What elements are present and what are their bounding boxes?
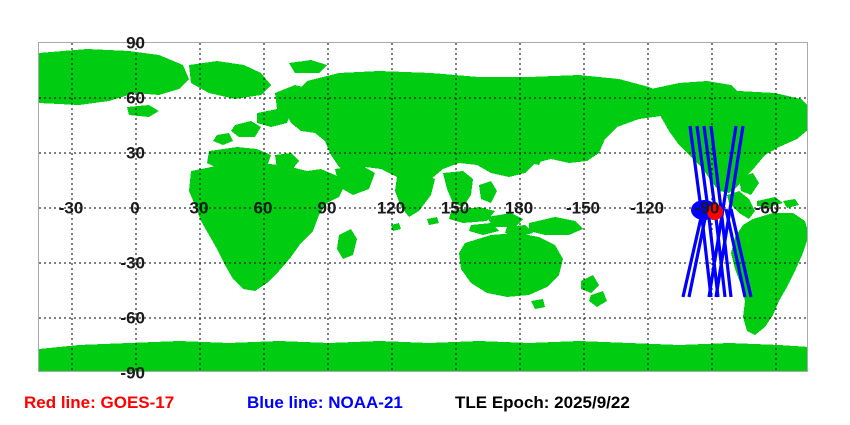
legend-blue-line-noaa21: Blue line: NOAA-21 bbox=[247, 394, 403, 411]
lon-label-60: 60 bbox=[254, 200, 273, 217]
lon-label-minus60: -60 bbox=[755, 200, 780, 217]
lat-label-minus60: -60 bbox=[85, 310, 145, 327]
satellite-ground-track-map: 90 60 30 -30 -60 -90 -30 0 30 60 90 120 … bbox=[0, 0, 850, 425]
lon-label-minus90: -90 bbox=[695, 200, 720, 217]
legend-footer: Red line: GOES-17 Blue line: NOAA-21 TLE… bbox=[0, 390, 850, 420]
lon-label-0: 0 bbox=[130, 200, 139, 217]
lon-label-120: 120 bbox=[377, 200, 405, 217]
map-canvas bbox=[39, 43, 808, 372]
lon-label-minus150: -150 bbox=[566, 200, 600, 217]
lon-label-180: 180 bbox=[505, 200, 533, 217]
world-map-plot bbox=[38, 42, 808, 372]
lat-label-30: 30 bbox=[85, 145, 145, 162]
lat-label-90: 90 bbox=[85, 35, 145, 52]
lon-label-90: 90 bbox=[318, 200, 337, 217]
legend-red-line-goes17: Red line: GOES-17 bbox=[24, 394, 174, 411]
lat-label-minus30: -30 bbox=[85, 255, 145, 272]
lat-label-minus90: -90 bbox=[85, 365, 145, 382]
lon-label-150: 150 bbox=[441, 200, 469, 217]
lon-label-minus120: -120 bbox=[630, 200, 664, 217]
lat-label-60: 60 bbox=[85, 90, 145, 107]
lon-label-30: 30 bbox=[190, 200, 209, 217]
lon-label-minus30: -30 bbox=[59, 200, 84, 217]
legend-tle-epoch: TLE Epoch: 2025/9/22 bbox=[455, 394, 630, 411]
